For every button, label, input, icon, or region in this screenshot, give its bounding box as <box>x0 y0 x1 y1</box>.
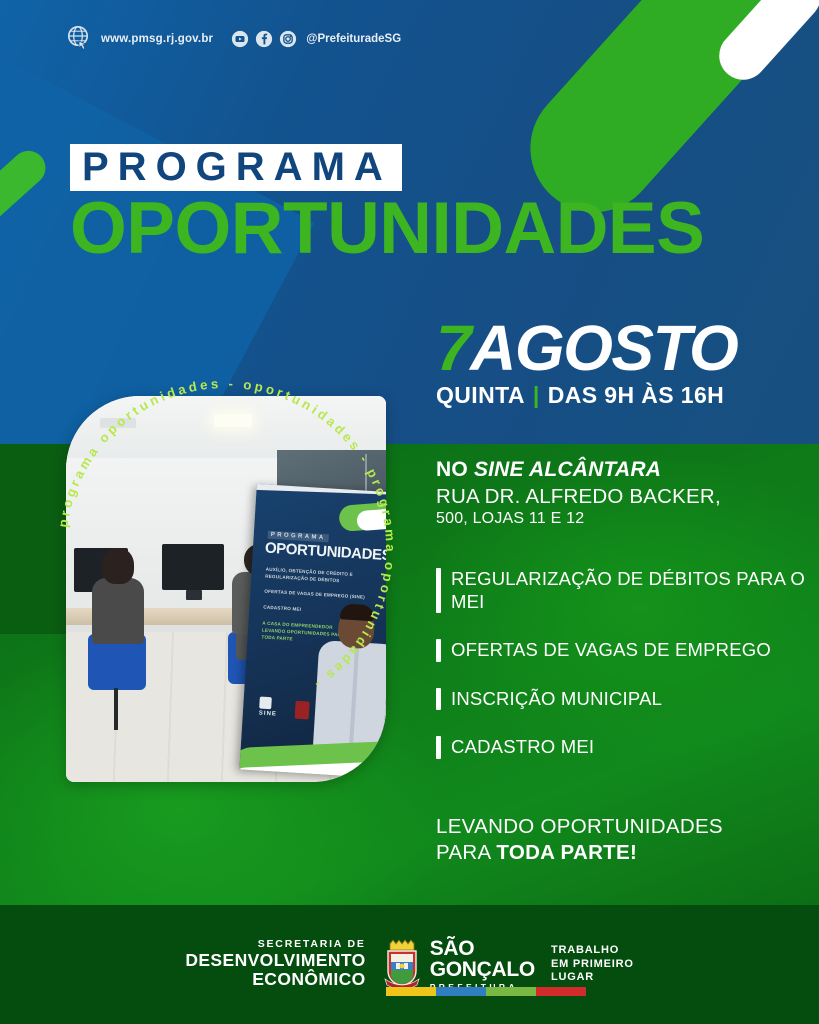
brand-color-bar <box>386 987 586 996</box>
secretaria-line-3: ECONÔMICO <box>185 970 365 990</box>
service-label: REGULARIZAÇÃO DE DÉBITOS PARA O MEI <box>451 568 806 613</box>
city-line-2: GONÇALO <box>430 959 535 980</box>
banner-title: OPORTUNIDADES <box>264 540 386 565</box>
slogan-line-3: LUGAR <box>551 971 634 984</box>
color-bar-blue <box>436 987 486 996</box>
youtube-icon[interactable] <box>231 30 249 48</box>
service-bullet-bar <box>436 688 441 711</box>
venue-prefix: NO <box>436 458 474 481</box>
service-label: INSCRIÇÃO MUNICIPAL <box>451 688 662 711</box>
event-month: AGOSTO <box>470 312 737 384</box>
photo-monitor <box>162 544 224 590</box>
photo-chair-leg <box>114 688 118 730</box>
event-day: 7 <box>436 312 470 384</box>
city-logo-row: SÃO GONÇALO PREFEITURA <box>382 938 535 992</box>
event-time-line: QUINTA | DAS 9H ÀS 16H <box>436 382 737 409</box>
photo-person-head <box>102 548 134 584</box>
banner-bullet: CADASTRO MEI <box>263 605 301 614</box>
city-logo-text: SÃO GONÇALO PREFEITURA <box>430 938 535 992</box>
title-block: PROGRAMA OPORTUNIDADES <box>70 144 704 265</box>
photo-ceiling-vent <box>100 418 136 428</box>
page-title-eyebrow: PROGRAMA <box>70 144 402 191</box>
secretaria-line-2: DESENVOLVIMENTO <box>185 951 365 971</box>
facebook-icon[interactable] <box>255 30 273 48</box>
service-bullet-bar <box>436 736 441 759</box>
city-logo-block: SÃO GONÇALO PREFEITURA <box>382 938 535 992</box>
sao-goncalo-coat-of-arms-icon <box>382 939 422 991</box>
footer: SECRETARIA DE DESENVOLVIMENTO ECONÔMICO <box>0 905 819 1024</box>
event-hours: DAS 9H ÀS 16H <box>548 382 724 409</box>
event-separator: | <box>533 382 540 409</box>
event-date-block: 7AGOSTO QUINTA | DAS 9H ÀS 16H <box>436 318 737 409</box>
photo-rollup-banner: PROGRAMA OPORTUNIDADES AUXÍLIO, OBTENÇÃO… <box>239 484 386 778</box>
service-item: CADASTRO MEI <box>436 736 806 759</box>
service-item: OFERTAS DE VAGAS DE EMPREGO <box>436 639 806 662</box>
site-url-label[interactable]: www.pmsg.rj.gov.br <box>101 33 213 45</box>
venue-name: SINE ALCÂNTARA <box>474 458 661 481</box>
venue-name-line: NO SINE ALCÂNTARA <box>436 458 804 482</box>
banner-bullet: AUXÍLIO, OBTENÇÃO DE CRÉDITO E REGULARIZ… <box>265 567 386 589</box>
page-title: OPORTUNIDADES <box>70 193 704 265</box>
tagline-line-2-strong: TODA PARTE! <box>496 841 637 864</box>
city-slogan-block: TRABALHO EM PRIMEIRO LUGAR <box>551 944 634 984</box>
slogan-line-1: TRABALHO <box>551 944 634 957</box>
tagline-line-1: LEVANDO OPORTUNIDADES <box>436 814 723 840</box>
event-photo: PROGRAMA OPORTUNIDADES AUXÍLIO, OBTENÇÃO… <box>66 396 386 782</box>
service-bullet-bar <box>436 639 441 662</box>
banner-white-blob <box>356 508 386 532</box>
venue-address-line-2: 500, LOJAS 11 E 12 <box>436 510 804 528</box>
photo-ceiling-light <box>214 414 252 427</box>
banner-sine-mark-icon <box>259 697 272 710</box>
social-handle-label[interactable]: @PrefeituradeSG <box>306 33 401 45</box>
photo-monitor-stand <box>186 590 202 600</box>
service-label: CADASTRO MEI <box>451 736 594 759</box>
color-bar-red <box>536 987 586 996</box>
banner-sine-label: SINE <box>259 710 277 717</box>
color-bar-green <box>486 987 536 996</box>
tagline-line-2: PARA TODA PARTE! <box>436 840 723 866</box>
header-bar: www.pmsg.rj.gov.br <box>66 24 401 54</box>
poster-canvas: www.pmsg.rj.gov.br <box>0 0 819 1024</box>
photo-person-body <box>92 578 144 644</box>
tagline-line-2-prefix: PARA <box>436 841 496 864</box>
slogan-line-2: EM PRIMEIRO <box>551 958 634 971</box>
globe-icon <box>66 24 92 54</box>
service-bullet-bar <box>436 568 441 613</box>
service-item: INSCRIÇÃO MUNICIPAL <box>436 688 806 711</box>
service-item: REGULARIZAÇÃO DE DÉBITOS PARA O MEI <box>436 568 806 613</box>
tagline-block: LEVANDO OPORTUNIDADES PARA TODA PARTE! <box>436 814 723 866</box>
service-label: OFERTAS DE VAGAS DE EMPREGO <box>451 639 771 662</box>
services-list: REGULARIZAÇÃO DE DÉBITOS PARA O MEI OFER… <box>436 568 806 785</box>
color-bar-yellow <box>386 987 436 996</box>
venue-info-block: NO SINE ALCÂNTARA RUA DR. ALFREDO BACKER… <box>436 458 804 528</box>
photo-module: programa oportunidades - oportunidades -… <box>66 396 386 782</box>
banner-city-crest-icon <box>295 701 310 720</box>
banner-bullet: OFERTAS DE VAGAS DE EMPREGO (SINE) <box>264 589 365 602</box>
social-links-group: @PrefeituradeSG <box>231 30 401 48</box>
city-line-1: SÃO <box>430 938 535 959</box>
venue-address-line-1: RUA DR. ALFREDO BACKER, <box>436 485 804 509</box>
event-date-line: 7AGOSTO <box>436 318 737 378</box>
instagram-icon[interactable] <box>279 30 297 48</box>
event-weekday: QUINTA <box>436 382 525 409</box>
banner-person-hair <box>340 603 375 621</box>
secretaria-logo-text: SECRETARIA DE DESENVOLVIMENTO ECONÔMICO <box>185 939 365 990</box>
